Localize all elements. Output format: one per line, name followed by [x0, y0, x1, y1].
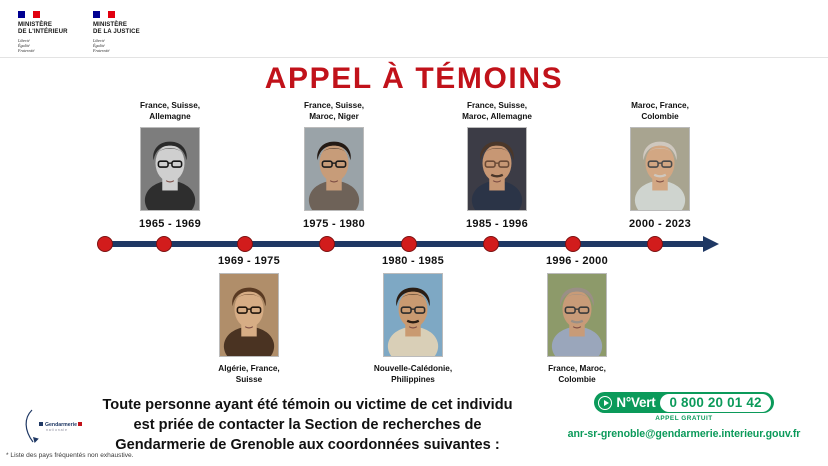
header: MINISTÈRE DE L'INTÉRIEUR Liberté Égalité… [0, 0, 828, 57]
ministry-justice-logo: MINISTÈRE DE LA JUSTICE Liberté Égalité … [93, 11, 140, 54]
timeline-dot [319, 236, 335, 252]
entry-portrait-photo [140, 127, 200, 211]
timeline-dot [647, 236, 663, 252]
timeline-entry: France, Suisse,Allemagne 1965 - 1969 [104, 100, 236, 230]
entry-portrait-photo [630, 127, 690, 211]
timeline-entry: 1980 - 1985 Nouvelle-Calédonie,Philippin… [347, 255, 479, 385]
timeline-arrow-icon [703, 236, 719, 252]
entry-years: 1996 - 2000 [511, 255, 643, 267]
appeal-line-3: Gendarmerie de Grenoble aux coordonnées … [80, 435, 535, 455]
timeline-entry: 1969 - 1975 Algérie, France,Suisse [183, 255, 315, 385]
entry-portrait-photo [383, 273, 443, 357]
poster: MINISTÈRE DE L'INTÉRIEUR Liberté Égalité… [0, 0, 828, 466]
entry-years: 1969 - 1975 [183, 255, 315, 267]
entry-countries: Maroc, France,Colombie [594, 100, 726, 122]
appeal-line-1: Toute personne ayant été témoin ou victi… [80, 395, 535, 415]
entry-countries-line: France, Suisse, [268, 100, 400, 111]
contact-email[interactable]: anr-sr-grenoble@gendarmerie.interieur.go… [548, 428, 820, 440]
play-circle-icon [598, 396, 612, 410]
entry-countries-line: Maroc, Niger [268, 111, 400, 122]
devise-fraternite: Fraternité [93, 49, 109, 53]
appeal-line-2: est priée de contacter la Section de rec… [80, 415, 535, 435]
free-call-label: APPEL GRATUIT [548, 415, 820, 422]
appeal-text: Toute personne ayant été témoin ou victi… [80, 395, 535, 455]
entry-countries-line: Maroc, Allemagne [431, 111, 563, 122]
timeline-entry: Maroc, France,Colombie 2000 - 2023 [594, 100, 726, 230]
entry-portrait-photo [467, 127, 527, 211]
timeline-entry: France, Suisse,Maroc, Allemagne 1985 - 1… [431, 100, 563, 230]
entry-countries-line: Suisse [183, 374, 315, 385]
entry-years: 1975 - 1980 [268, 218, 400, 230]
timeline-dot [156, 236, 172, 252]
ministry-name-line1: MINISTÈRE [93, 21, 127, 28]
numero-vert-badge[interactable]: N°Vert 0 800 20 01 42 [594, 392, 773, 413]
timeline-dot [97, 236, 113, 252]
entry-years: 1965 - 1969 [104, 218, 236, 230]
timeline: France, Suisse,Allemagne 1965 - 19691969… [0, 100, 828, 390]
entry-countries-line: Maroc, France, [594, 100, 726, 111]
contact-block: N°Vert 0 800 20 01 42 APPEL GRATUIT anr-… [548, 392, 820, 440]
timeline-dot [237, 236, 253, 252]
entry-countries: Nouvelle-Calédonie,Philippines [347, 363, 479, 385]
entry-countries-line: France, Suisse, [431, 100, 563, 111]
timeline-dot [401, 236, 417, 252]
footnote: * Liste des pays fréquentés non exhausti… [6, 452, 134, 459]
devise-block: Liberté Égalité Fraternité [18, 39, 34, 54]
entry-countries-line: Algérie, France, [183, 363, 315, 374]
entry-countries-line: Nouvelle-Calédonie, [347, 363, 479, 374]
timeline-entry: France, Suisse,Maroc, Niger 1975 - 1980 [268, 100, 400, 230]
entry-years: 1980 - 1985 [347, 255, 479, 267]
entry-portrait-photo [547, 273, 607, 357]
french-flag-icon [18, 11, 40, 18]
entry-countries-line: Colombie [594, 111, 726, 122]
entry-countries: France, Suisse,Maroc, Niger [268, 100, 400, 122]
timeline-dot [483, 236, 499, 252]
ministry-name-line2: DE L'INTÉRIEUR [18, 28, 68, 35]
entry-countries-line: Allemagne [104, 111, 236, 122]
timeline-entry: 1996 - 2000 France, Maroc,Colombie [511, 255, 643, 385]
ministry-interieur-logo: MINISTÈRE DE L'INTÉRIEUR Liberté Égalité… [18, 11, 68, 54]
entry-years: 1985 - 1996 [431, 218, 563, 230]
entry-countries-line: France, Suisse, [104, 100, 236, 111]
entry-countries: France, Maroc,Colombie [511, 363, 643, 385]
phone-number[interactable]: 0 800 20 01 42 [660, 394, 770, 412]
devise-fraternite: Fraternité [18, 49, 34, 53]
entry-countries: Algérie, France,Suisse [183, 363, 315, 385]
gendarmerie-logo: Gendarmerie nationale [18, 404, 92, 446]
french-flag-icon [93, 11, 115, 18]
numvert-label: N°Vert [616, 395, 660, 410]
header-divider [0, 57, 828, 58]
timeline-dot [565, 236, 581, 252]
ministry-name-line2: DE LA JUSTICE [93, 28, 140, 35]
svg-text:nationale: nationale [46, 428, 68, 432]
entry-countries: France, Suisse,Maroc, Allemagne [431, 100, 563, 122]
entry-countries-line: Colombie [511, 374, 643, 385]
entry-countries-line: France, Maroc, [511, 363, 643, 374]
entry-portrait-photo [304, 127, 364, 211]
entry-portrait-photo [219, 273, 279, 357]
page-title: APPEL À TÉMOINS [0, 62, 828, 96]
entry-countries: France, Suisse,Allemagne [104, 100, 236, 122]
entry-countries-line: Philippines [347, 374, 479, 385]
devise-block: Liberté Égalité Fraternité [93, 39, 109, 54]
entry-years: 2000 - 2023 [594, 218, 726, 230]
